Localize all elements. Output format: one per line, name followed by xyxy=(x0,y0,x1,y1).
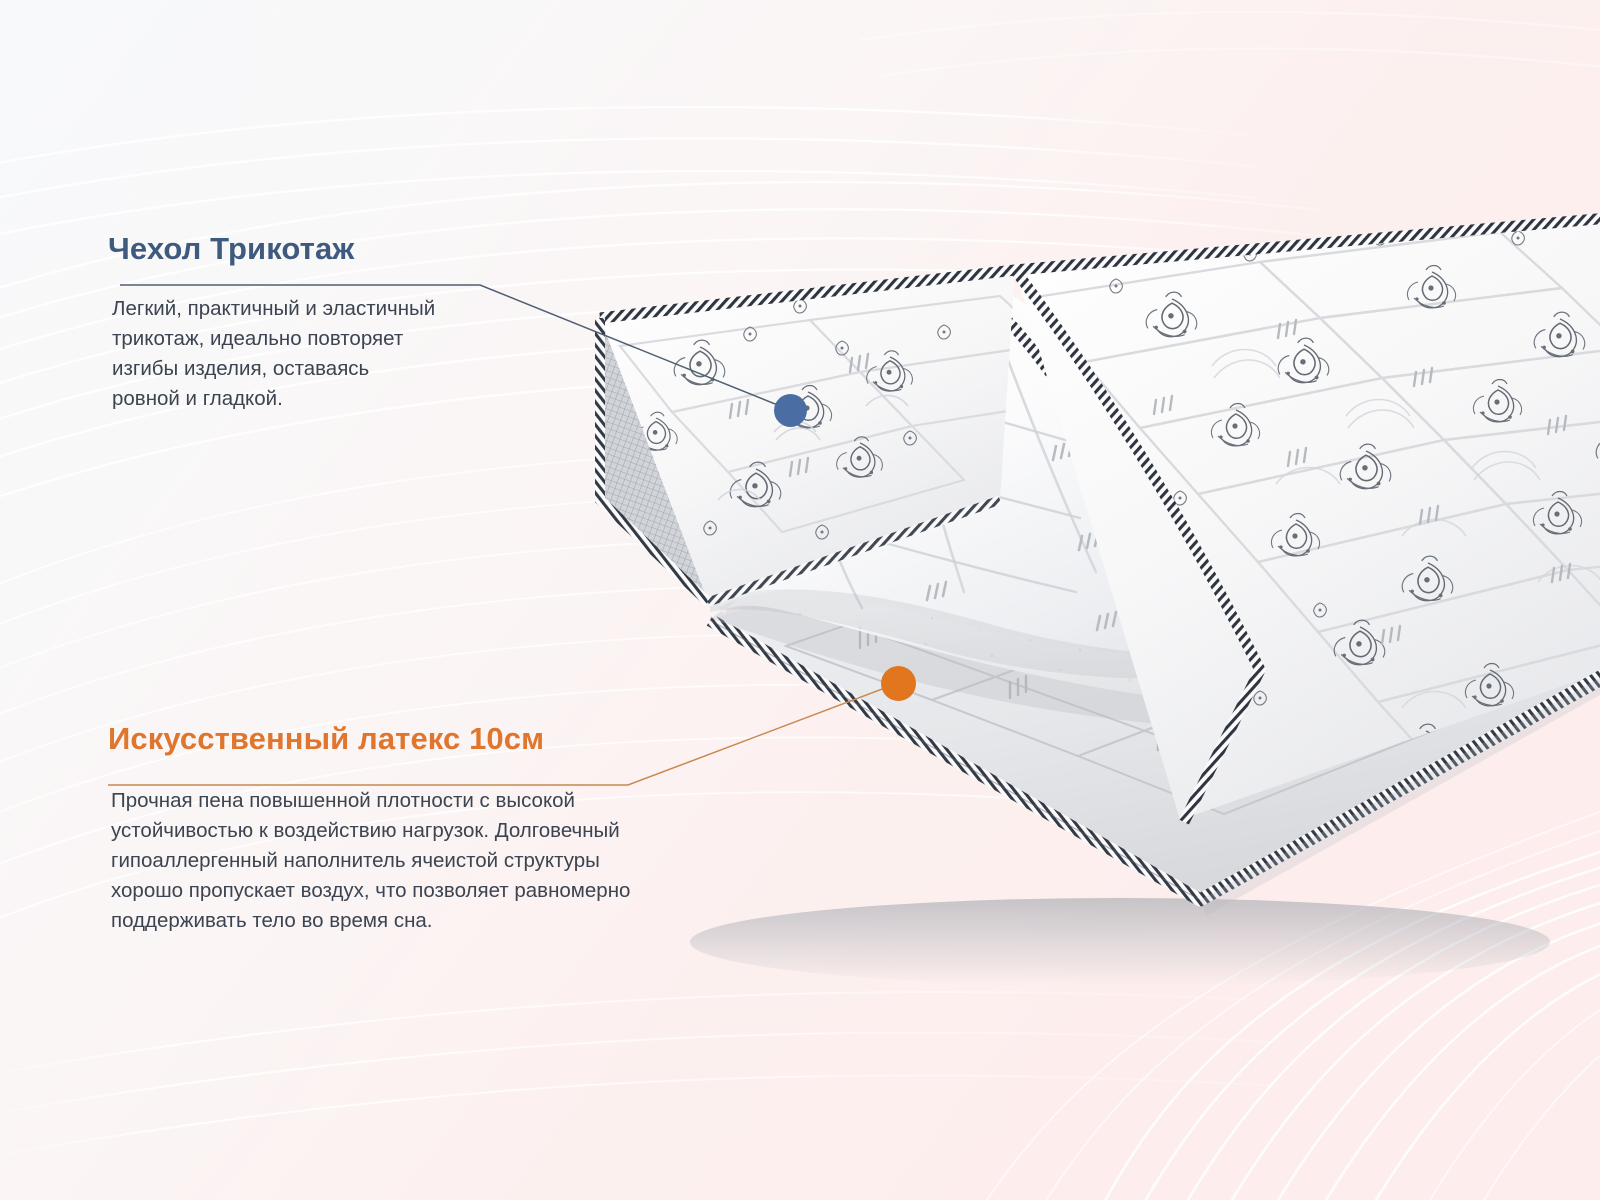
knit-cover-flap xyxy=(710,285,1352,678)
callout-latex-title: Искусственный латекс 10см xyxy=(108,722,641,756)
mattress-illustration xyxy=(560,200,1600,1020)
hotspot-dot-latex[interactable] xyxy=(881,666,916,701)
mattress-base-layer xyxy=(600,318,1600,900)
leader-lines xyxy=(0,0,1600,1200)
hotspot-dot-cover[interactable] xyxy=(774,394,807,427)
mattress-piping-edges xyxy=(600,218,1600,900)
quilt-panel-near xyxy=(600,270,1104,602)
callout-cover-title: Чехол Трикотаж xyxy=(108,232,442,266)
callout-cover-body: Легкий, практичный и эластичный трикотаж… xyxy=(112,294,442,414)
callout-cover: Чехол Трикотаж Легкий, практичный и элас… xyxy=(108,232,442,414)
quilt-panel-far xyxy=(1015,218,1600,820)
background-swoosh-pattern xyxy=(0,0,1600,1200)
callout-latex: Искусственный латекс 10см Прочная пена п… xyxy=(108,722,641,936)
foam-latex-layer xyxy=(710,543,1600,730)
infographic-canvas: Чехол Трикотаж Легкий, практичный и элас… xyxy=(0,0,1600,1200)
callout-latex-body: Прочная пена повышенной плотности с высо… xyxy=(111,786,641,936)
